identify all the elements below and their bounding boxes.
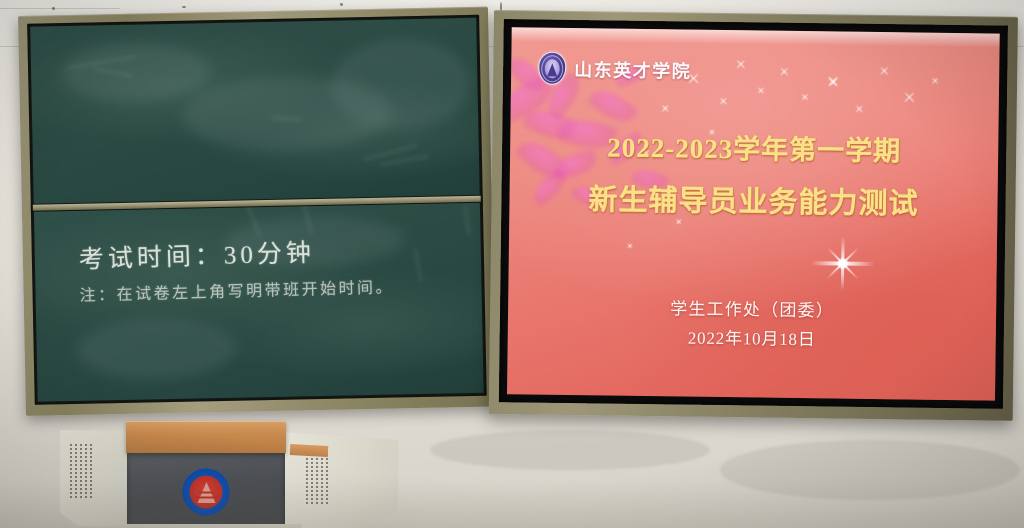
lectern-left-perforations — [70, 444, 92, 498]
sparkle-icon — [626, 242, 634, 250]
wall-streak — [720, 440, 1020, 500]
slide-title-line-1: 2022-2023学年第一学期 — [510, 124, 998, 169]
big-sparkle-icon — [810, 231, 875, 296]
wall-speck — [52, 7, 55, 10]
lectern-front-panel — [127, 453, 285, 528]
sparkle-icon — [733, 56, 749, 72]
sparkle-icon — [825, 73, 842, 90]
projection-screen[interactable]: 山东英才学院 2022-2023学年第一学期 新生辅导员业务能力测试 学生工作处… — [489, 10, 1018, 421]
sparkle-icon — [717, 94, 730, 107]
chalkboard-panel-upper — [30, 18, 479, 204]
lectern — [38, 408, 410, 528]
wall-streak — [430, 430, 710, 470]
sparkle-icon — [799, 91, 810, 102]
chalkboard-line-2: 注：在试卷左上角写明带班开始时间。 — [79, 273, 394, 305]
lectern-base — [116, 524, 302, 528]
wall-speck — [340, 3, 343, 6]
sparkle-icon — [755, 85, 766, 96]
chalkboard-line-1: 考试时间：30分钟 — [78, 233, 315, 276]
university-seal-icon — [538, 52, 566, 85]
sparkle-icon — [659, 101, 672, 114]
screen-surface: 山东英才学院 2022-2023学年第一学期 新生辅导员业务能力测试 学生工作处… — [507, 27, 1000, 400]
sparkle-icon — [777, 65, 791, 79]
sparkle-icon — [929, 75, 940, 86]
wall-speck — [182, 6, 186, 8]
lectern-wooden-edge — [290, 444, 329, 457]
chalkboard: 考试时间：30分钟 注：在试卷左上角写明带班开始时间。 — [18, 7, 496, 416]
organization-name: 山东英才学院 — [574, 56, 691, 84]
lectern-right-perforations — [306, 450, 328, 504]
university-logo-row: 山东英才学院 — [538, 52, 691, 87]
slide-footer-line-1: 学生工作处（团委） — [508, 292, 996, 323]
slide-footer-line-2: 2022年10月18日 — [508, 321, 996, 352]
sparkle-icon — [877, 64, 891, 78]
lectern-wooden-top — [126, 421, 286, 453]
sparkle-icon — [853, 102, 866, 115]
classroom-scene: 考试时间：30分钟 注：在试卷左上角写明带班开始时间。 — [0, 0, 1024, 528]
sparkle-icon — [900, 88, 918, 106]
chalkboard-panel-lower: 考试时间：30分钟 注：在试卷左上角写明带班开始时间。 — [34, 203, 484, 402]
wall-seam — [0, 8, 120, 9]
slide-title-line-2: 新生辅导员业务能力测试 — [509, 175, 998, 223]
lectern-emblem-icon — [183, 469, 230, 516]
